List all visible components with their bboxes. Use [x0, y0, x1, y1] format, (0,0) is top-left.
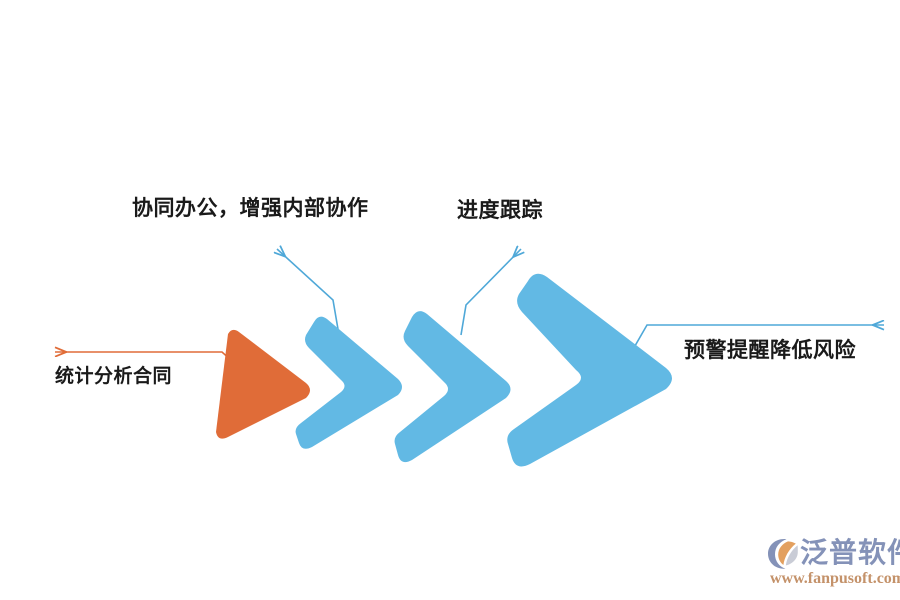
watermark-brand-name: 泛普软件 [800, 536, 900, 570]
step-shape-4-risk-alert[interactable] [507, 274, 672, 467]
watermark-logo: 泛普软件 www.fanpusoft.com [766, 534, 894, 592]
chevron-process-flow-graphic [0, 0, 900, 600]
fanpu-swoosh-icon [766, 537, 802, 571]
step-label-statistics: 统计分析合同 [55, 367, 172, 386]
diagram-canvas: 协同办公，增强内部协作 进度跟踪 预警提醒降低风险 统计分析合同 泛普软件 ww… [0, 0, 900, 600]
step-shape-2-collaboration[interactable] [296, 317, 402, 449]
step-label-progress: 进度跟踪 [457, 200, 543, 221]
step-shape-1-statistics[interactable] [216, 330, 310, 439]
step-shape-3-progress[interactable] [395, 311, 511, 462]
connector-progress-arrow [461, 249, 521, 335]
step-label-risk: 预警提醒降低风险 [684, 340, 856, 361]
watermark-url: www.fanpusoft.com [770, 570, 900, 588]
connector-stats-arrow [55, 352, 232, 361]
step-label-collaboration: 协同办公，增强内部协作 [132, 198, 369, 219]
